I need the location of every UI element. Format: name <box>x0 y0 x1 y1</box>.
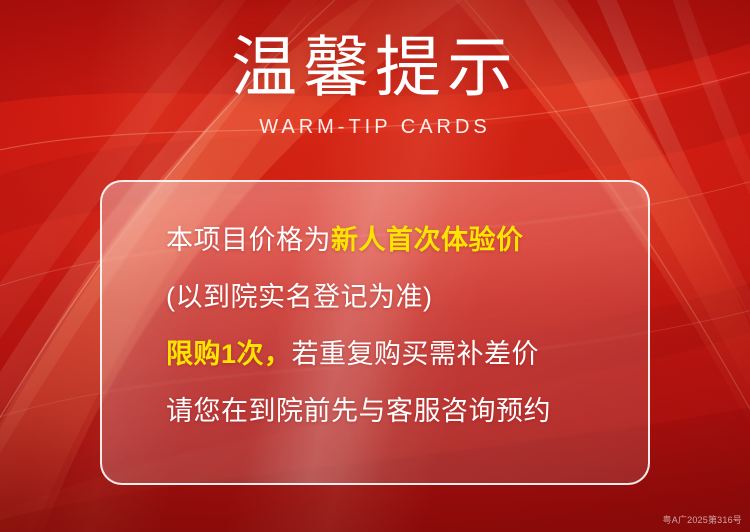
line-booking: 请您在到院前先与客服咨询预约 <box>166 383 648 440</box>
line-booking-segment-1: 请您在到院前先与客服咨询预约 <box>166 396 551 426</box>
page-subtitle: WARM-TIP CARDS <box>0 105 750 139</box>
line-limit-segment-2: 若重复购买需补差价 <box>292 339 540 369</box>
line-limit-segment-1: 限购1次， <box>166 339 292 369</box>
line-registration: (以到院实名登记为准) <box>166 269 648 326</box>
poster-header: 温馨提示 WARM-TIP CARDS <box>0 0 750 139</box>
ad-license-number: 粤A广2025第316号 <box>663 515 742 526</box>
page-title: 温馨提示 <box>0 0 750 105</box>
warm-tip-poster: 温馨提示 WARM-TIP CARDS 本项目价格为新人首次体验价(以到院实名登… <box>0 0 750 532</box>
line-registration-segment-1: (以到院实名登记为准) <box>166 282 432 312</box>
line-price-segment-1: 本项目价格为 <box>166 225 331 255</box>
tip-card-body: 本项目价格为新人首次体验价(以到院实名登记为准)限购1次，若重复购买需补差价请您… <box>102 182 648 440</box>
line-price-segment-2: 新人首次体验价 <box>331 225 524 255</box>
line-limit: 限购1次，若重复购买需补差价 <box>166 326 648 383</box>
line-price: 本项目价格为新人首次体验价 <box>166 212 648 269</box>
tip-card: 本项目价格为新人首次体验价(以到院实名登记为准)限购1次，若重复购买需补差价请您… <box>100 180 650 485</box>
